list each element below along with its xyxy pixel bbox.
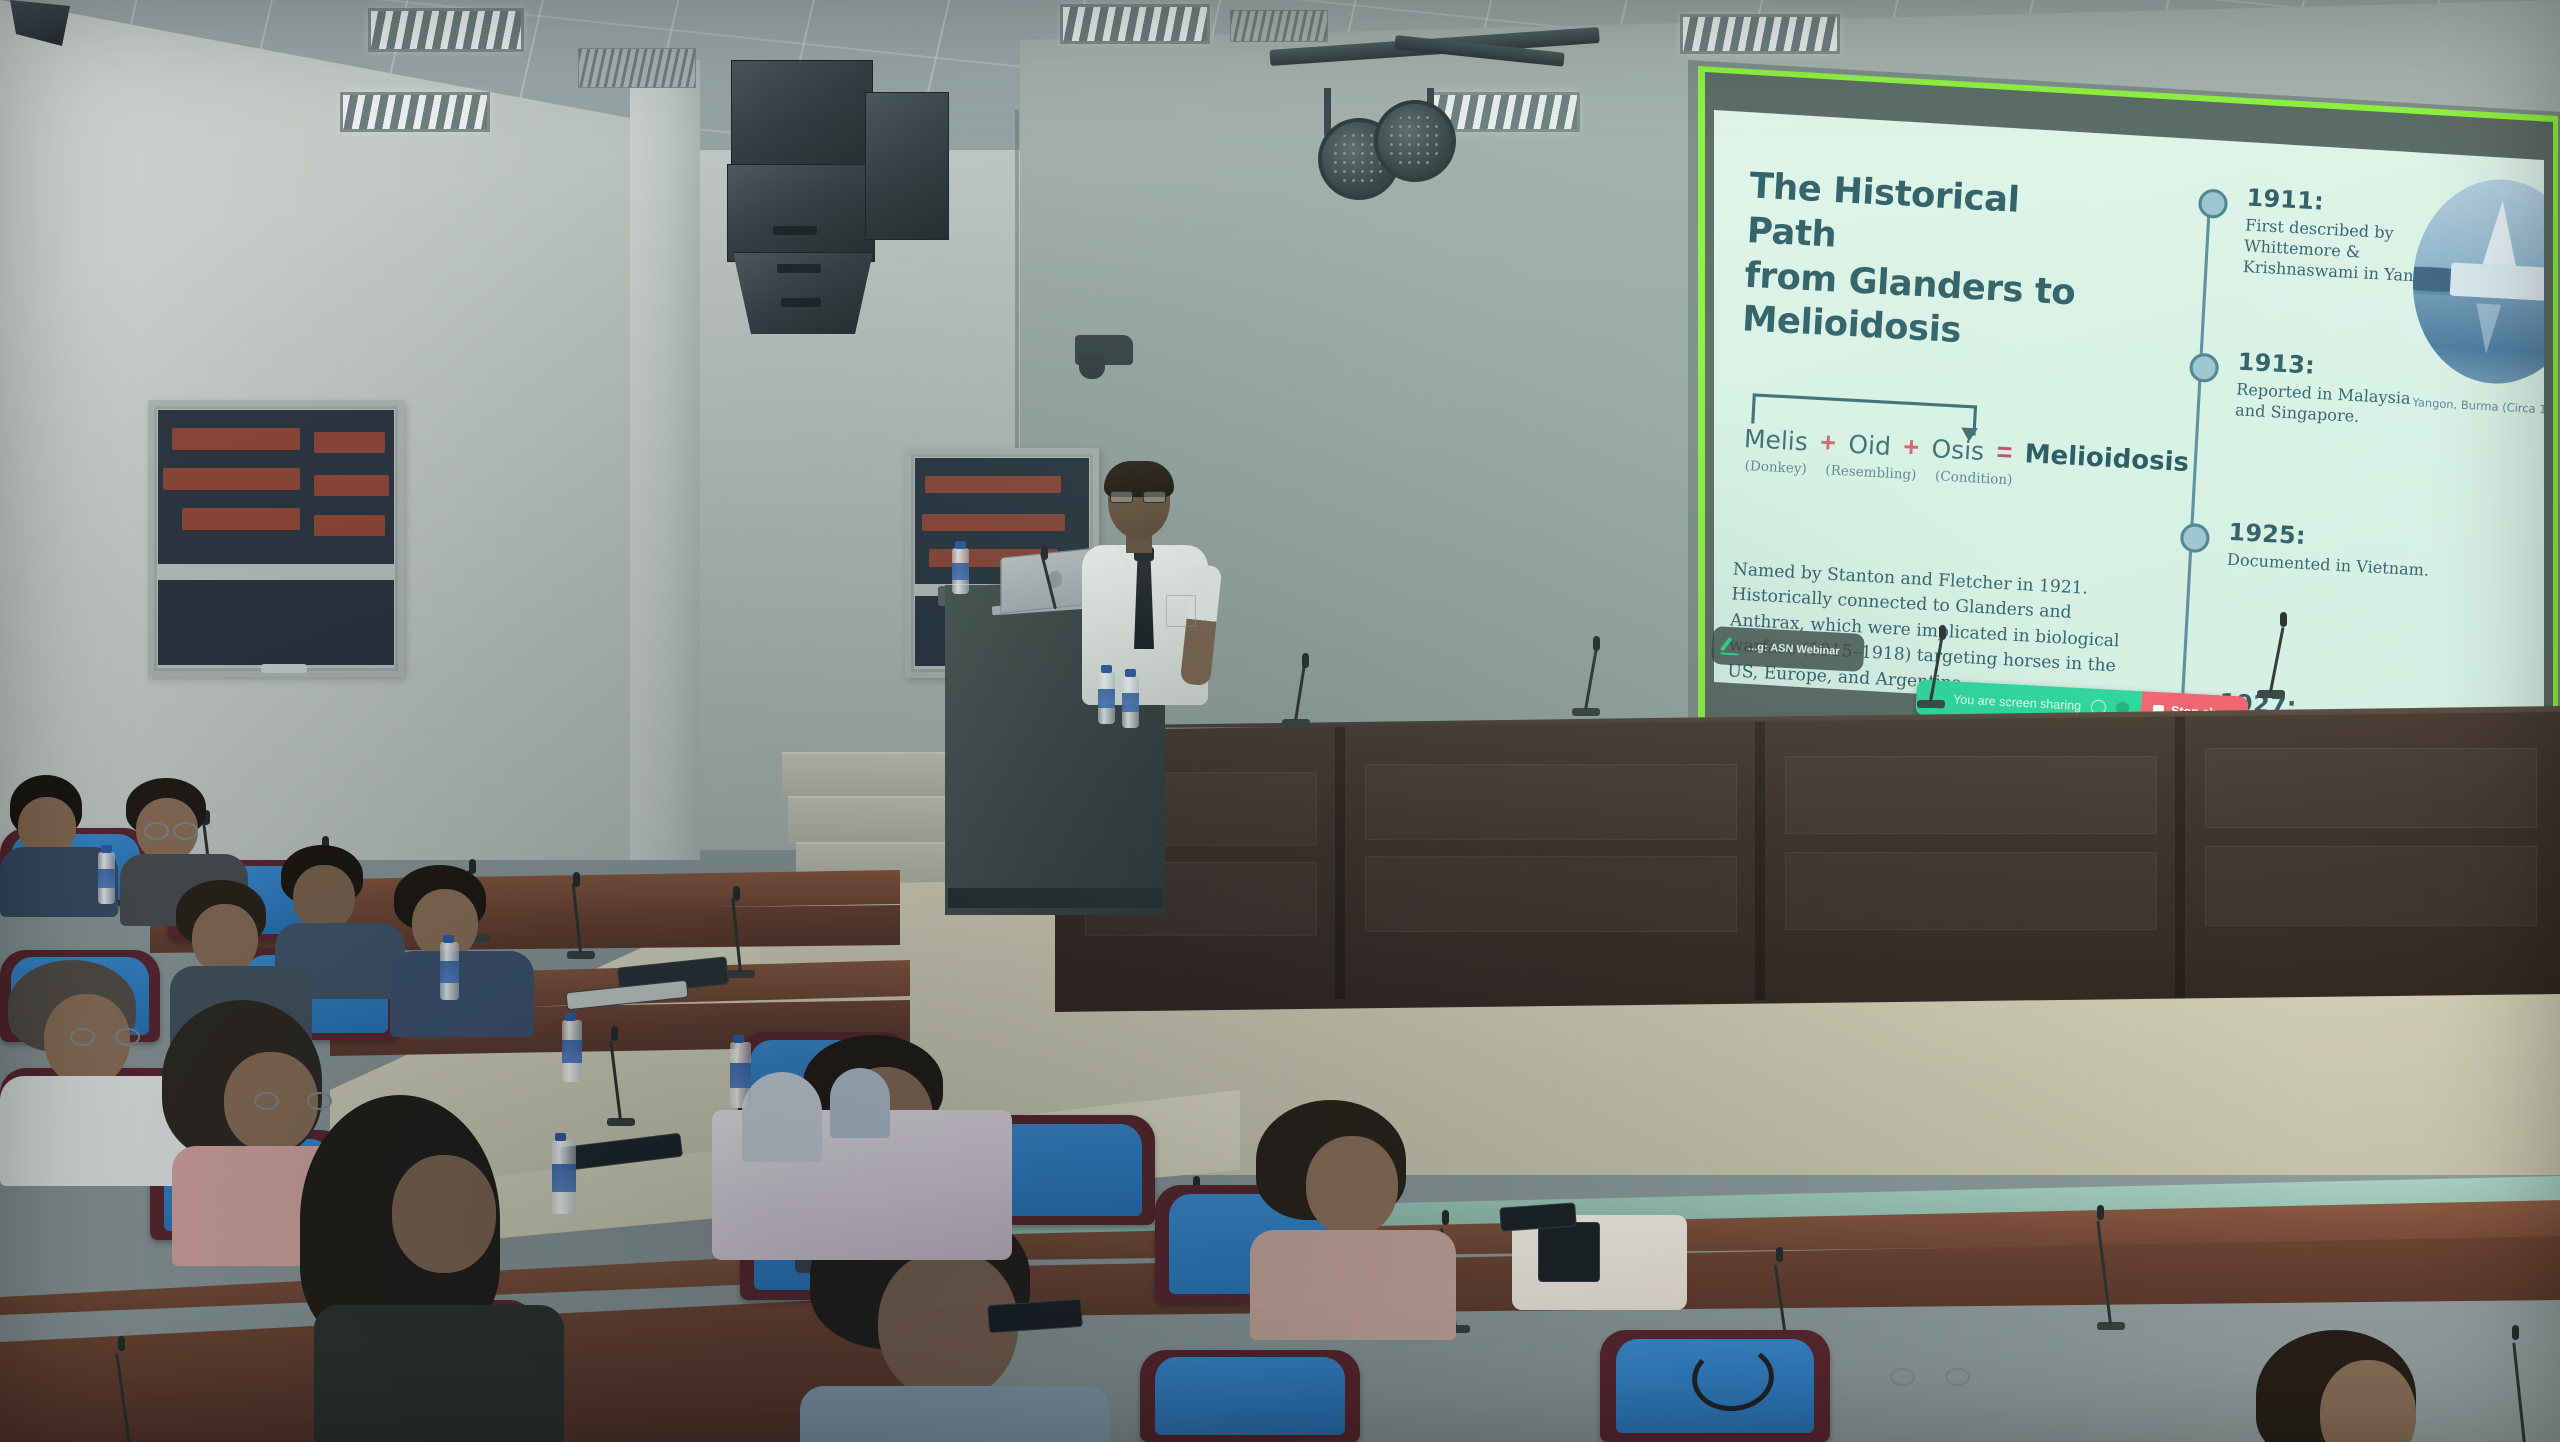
microphone-head	[118, 1336, 125, 1351]
person-torso	[800, 1386, 1110, 1442]
person-head	[192, 904, 258, 974]
pa-speaker-port	[777, 264, 821, 273]
glasses-icon	[144, 822, 198, 838]
etymology-word-1: Melis	[1743, 424, 1808, 457]
person-torso	[314, 1305, 564, 1442]
glasses-icon	[1110, 491, 1166, 501]
window-handle[interactable]	[261, 664, 307, 673]
etymology-arrow-icon	[1961, 428, 1978, 442]
head-table-divider	[1755, 717, 1765, 1000]
plus-icon: +	[1902, 431, 1920, 464]
audience-member	[170, 880, 302, 1010]
eyeglasses-on-desk[interactable]	[1890, 1368, 1970, 1390]
ceiling-light-panel	[1060, 4, 1210, 44]
bottle-cap	[565, 1013, 576, 1021]
head-table-panel	[1785, 756, 2157, 834]
head-table	[1055, 712, 2560, 1012]
photo-reflection	[2473, 304, 2501, 355]
microphone-head	[1939, 625, 1946, 640]
wall-window-left	[148, 400, 404, 677]
par-can-light	[1374, 100, 1456, 182]
etymology-meaning-1: (Donkey)	[1744, 459, 1807, 478]
ceiling-light-panel	[340, 92, 490, 132]
bottle-cap	[733, 1035, 744, 1043]
window-lower-pane	[158, 580, 394, 665]
head-table-panel	[1785, 852, 2157, 930]
water-bottle[interactable]	[1122, 676, 1139, 728]
plus-icon: +	[1819, 426, 1837, 459]
ceiling-light-panel	[368, 8, 524, 52]
person-torso	[1250, 1230, 1456, 1340]
microphone-head	[2512, 1325, 2519, 1340]
water-bottle[interactable]	[730, 1042, 751, 1108]
slide-title: The Historical Path from Glanders to Mel…	[1741, 164, 2093, 360]
bottle-cap	[1125, 669, 1136, 677]
water-bottle[interactable]	[1098, 672, 1115, 724]
window-blind-slat	[314, 475, 390, 497]
pa-speaker-array	[725, 60, 955, 350]
timeline-dot	[2198, 188, 2229, 219]
etymology-word-2: Oid	[1848, 430, 1892, 461]
window-blind-slat	[314, 432, 385, 454]
microphone-head	[2097, 1205, 2104, 1220]
presenter	[1080, 465, 1210, 705]
microphone-stem	[2512, 1342, 2527, 1442]
bottle-label	[1122, 693, 1139, 713]
head-table-panel	[2205, 846, 2537, 926]
window-blind-slat	[314, 515, 385, 537]
pa-speaker-cabinet-mid	[727, 164, 875, 262]
auditorium-scene: The Historical Path from Glanders to Mel…	[0, 0, 2560, 1442]
water-bottle[interactable]	[562, 1020, 582, 1082]
podium-base	[948, 888, 1163, 908]
pa-speaker-port	[773, 226, 817, 235]
window-blind-slat	[182, 508, 300, 530]
presenter-shirt-pocket	[1166, 595, 1196, 627]
phone-on-bag[interactable]	[1538, 1222, 1600, 1282]
etymology-meaning-3: (Condition)	[1935, 469, 2013, 489]
etymology-result: Melioidosis	[2024, 438, 2190, 477]
timeline-entry: 1925: Documented in Vietnam.	[2227, 519, 2437, 581]
backpack-strap	[742, 1072, 822, 1162]
head-table-panel	[2205, 748, 2537, 828]
wall-corner-column	[630, 60, 700, 860]
head-table-panel	[1365, 856, 1737, 932]
pa-speaker-cabinet-upper	[731, 60, 873, 174]
photo-lake-water	[2408, 293, 2544, 388]
bottle-label	[730, 1063, 751, 1088]
window-blind-slat	[163, 468, 300, 490]
bottle-cap	[443, 935, 454, 943]
microphone-head	[1041, 545, 1048, 560]
equals-icon: =	[1996, 436, 2014, 469]
window-blind-slat	[925, 476, 1061, 494]
annotation-toolbar[interactable]: ...g: ASN Webinar	[1711, 626, 1865, 672]
audience-member	[2250, 1330, 2470, 1442]
person-head	[1306, 1136, 1398, 1236]
audience-chair[interactable]	[1140, 1350, 1360, 1442]
head-table-panel	[1365, 764, 1737, 840]
microphone-head	[1776, 1247, 1783, 1262]
microphone-head	[611, 1026, 618, 1041]
bottle-label	[552, 1164, 576, 1192]
microphone-head	[1593, 636, 1600, 651]
glasses-icon	[70, 1028, 140, 1048]
bottle-cap	[101, 845, 112, 853]
photo-pagoda-spire	[2483, 199, 2520, 265]
bottle-cap	[955, 541, 966, 549]
audience-member	[0, 775, 110, 885]
share-status-text: You are screen sharing	[1953, 692, 2082, 713]
bottle-label	[98, 869, 115, 889]
timeline-dot	[2189, 352, 2220, 383]
ceiling-air-vent	[578, 48, 696, 88]
window-upper-pane	[158, 410, 394, 564]
audience-member	[1250, 1100, 1450, 1290]
pa-speaker-side-cabinet	[865, 92, 949, 240]
bottle-label	[952, 563, 969, 580]
person-head	[293, 865, 355, 931]
person-torso	[390, 951, 534, 1037]
stage-step	[788, 796, 956, 844]
ceiling-air-vent	[1230, 10, 1328, 42]
microphone-head	[573, 872, 580, 887]
pa-speaker-port	[781, 298, 821, 307]
water-bottle[interactable]	[440, 942, 459, 1000]
ceiling-light-panel	[1680, 14, 1840, 54]
audience-member	[0, 960, 180, 1135]
bottle-cap	[1101, 665, 1112, 673]
bottle-label	[440, 961, 459, 983]
person-head	[392, 1155, 496, 1273]
window-blind-slat	[172, 428, 299, 450]
bottle-cap	[555, 1133, 566, 1141]
etymology-diagram: Melis + Oid + Osis = Melioidosis (Donkey…	[1742, 422, 2139, 495]
water-bottle[interactable]	[552, 1140, 576, 1214]
pen-icon[interactable]	[1720, 634, 1743, 657]
slide-photo-yangon	[2408, 175, 2544, 388]
microphone-head	[2280, 612, 2287, 627]
timeline-axis	[2179, 195, 2211, 727]
window-blind-slat	[922, 514, 1065, 532]
backpack-strap	[830, 1068, 890, 1138]
water-bottle[interactable]	[98, 852, 115, 904]
timeline-dot	[2180, 523, 2211, 554]
annotation-label: ...g: ASN Webinar	[1748, 641, 1840, 658]
wall-camera	[1075, 335, 1133, 365]
head-table-divider	[1335, 724, 1345, 999]
bottle-label	[562, 1040, 582, 1064]
etymology-meaning-2: (Resembling)	[1825, 463, 1917, 484]
head-table-divider	[2175, 712, 2185, 1002]
microphone-head	[733, 886, 740, 901]
audience-member	[300, 1095, 560, 1395]
stage-step	[782, 752, 962, 798]
microphone-head	[1302, 653, 1309, 668]
water-bottle[interactable]	[952, 548, 969, 594]
bottle-label	[1098, 689, 1115, 709]
